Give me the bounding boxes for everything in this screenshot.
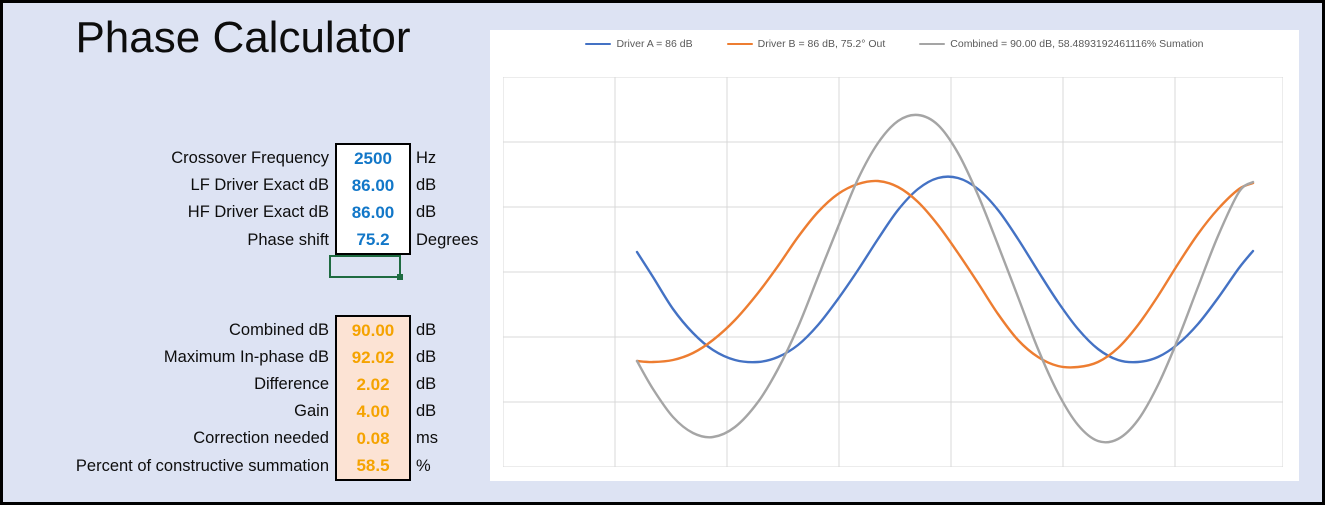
unit-maximum-in-phase-db: dB bbox=[410, 344, 483, 371]
legend-item-driver-a[interactable]: Driver A = 86 dB bbox=[585, 38, 692, 50]
legend-label-combined: Combined = 90.00 dB, 58.4893192461116% S… bbox=[950, 38, 1203, 50]
unit-gain: dB bbox=[410, 398, 483, 425]
chart-legend: Driver A = 86 dB Driver B = 86 dB, 75.2°… bbox=[490, 38, 1299, 50]
input-phase-shift[interactable]: 75.2 bbox=[336, 226, 410, 254]
table-row: Combined dB 90.00 dB bbox=[3, 316, 483, 344]
label-difference: Difference bbox=[3, 371, 336, 398]
table-row: Percent of constructive summation 58.5 % bbox=[3, 452, 483, 480]
phase-chart[interactable]: Driver A = 86 dB Driver B = 86 dB, 75.2°… bbox=[490, 30, 1299, 481]
input-hf-driver-exact-db[interactable]: 86.00 bbox=[336, 199, 410, 226]
legend-swatch-driver-b bbox=[727, 43, 753, 46]
label-percent-constructive-summation: Percent of constructive summation bbox=[3, 452, 336, 480]
value-percent-constructive-summation: 58.5 bbox=[336, 452, 410, 480]
label-crossover-frequency: Crossover Frequency bbox=[3, 144, 336, 172]
input-crossover-frequency[interactable]: 2500 bbox=[336, 144, 410, 172]
table-row: HF Driver Exact dB 86.00 dB bbox=[3, 199, 483, 226]
active-cell-selection[interactable] bbox=[329, 255, 401, 278]
value-maximum-in-phase-db: 92.02 bbox=[336, 344, 410, 371]
unit-combined-db: dB bbox=[410, 316, 483, 344]
results-table: Combined dB 90.00 dB Maximum In-phase dB… bbox=[3, 315, 483, 481]
table-row: LF Driver Exact dB 86.00 dB bbox=[3, 172, 483, 199]
label-combined-db: Combined dB bbox=[3, 316, 336, 344]
label-correction-needed: Correction needed bbox=[3, 425, 336, 452]
legend-swatch-combined bbox=[919, 43, 945, 46]
table-row: Phase shift 75.2 Degrees bbox=[3, 226, 483, 254]
label-phase-shift: Phase shift bbox=[3, 226, 336, 254]
table-row: Correction needed 0.08 ms bbox=[3, 425, 483, 452]
table-row: Difference 2.02 dB bbox=[3, 371, 483, 398]
plot-svg bbox=[503, 77, 1283, 467]
value-gain: 4.00 bbox=[336, 398, 410, 425]
table-row: Gain 4.00 dB bbox=[3, 398, 483, 425]
legend-label-driver-a: Driver A = 86 dB bbox=[616, 38, 692, 50]
label-lf-driver-exact-db: LF Driver Exact dB bbox=[3, 172, 336, 199]
label-gain: Gain bbox=[3, 398, 336, 425]
calculator-panel: Phase Calculator Crossover Frequency 250… bbox=[3, 3, 483, 502]
legend-item-combined[interactable]: Combined = 90.00 dB, 58.4893192461116% S… bbox=[919, 38, 1203, 50]
fill-handle[interactable] bbox=[397, 274, 403, 280]
value-combined-db: 90.00 bbox=[336, 316, 410, 344]
curve bbox=[637, 181, 1253, 368]
label-maximum-in-phase-db: Maximum In-phase dB bbox=[3, 344, 336, 371]
table-row: Crossover Frequency 2500 Hz bbox=[3, 144, 483, 172]
unit-lf-driver-exact-db: dB bbox=[410, 172, 483, 199]
input-fields-table: Crossover Frequency 2500 Hz LF Driver Ex… bbox=[3, 143, 483, 255]
curve bbox=[637, 177, 1253, 363]
legend-label-driver-b: Driver B = 86 dB, 75.2° Out bbox=[758, 38, 886, 50]
label-hf-driver-exact-db: HF Driver Exact dB bbox=[3, 199, 336, 226]
legend-swatch-driver-a bbox=[585, 43, 611, 46]
page-title: Phase Calculator bbox=[3, 13, 483, 63]
value-correction-needed: 0.08 bbox=[336, 425, 410, 452]
unit-phase-shift: Degrees bbox=[410, 226, 483, 254]
table-row: Maximum In-phase dB 92.02 dB bbox=[3, 344, 483, 371]
unit-crossover-frequency: Hz bbox=[410, 144, 483, 172]
legend-item-driver-b[interactable]: Driver B = 86 dB, 75.2° Out bbox=[727, 38, 886, 50]
value-difference: 2.02 bbox=[336, 371, 410, 398]
data-curves bbox=[637, 115, 1253, 442]
unit-difference: dB bbox=[410, 371, 483, 398]
unit-percent-constructive-summation: % bbox=[410, 452, 483, 480]
curve bbox=[637, 115, 1253, 442]
unit-hf-driver-exact-db: dB bbox=[410, 199, 483, 226]
plot-area[interactable] bbox=[503, 77, 1283, 467]
unit-correction-needed: ms bbox=[410, 425, 483, 452]
input-lf-driver-exact-db[interactable]: 86.00 bbox=[336, 172, 410, 199]
gridlines bbox=[503, 77, 1283, 467]
phase-calculator-window: Phase Calculator Crossover Frequency 250… bbox=[0, 0, 1325, 505]
